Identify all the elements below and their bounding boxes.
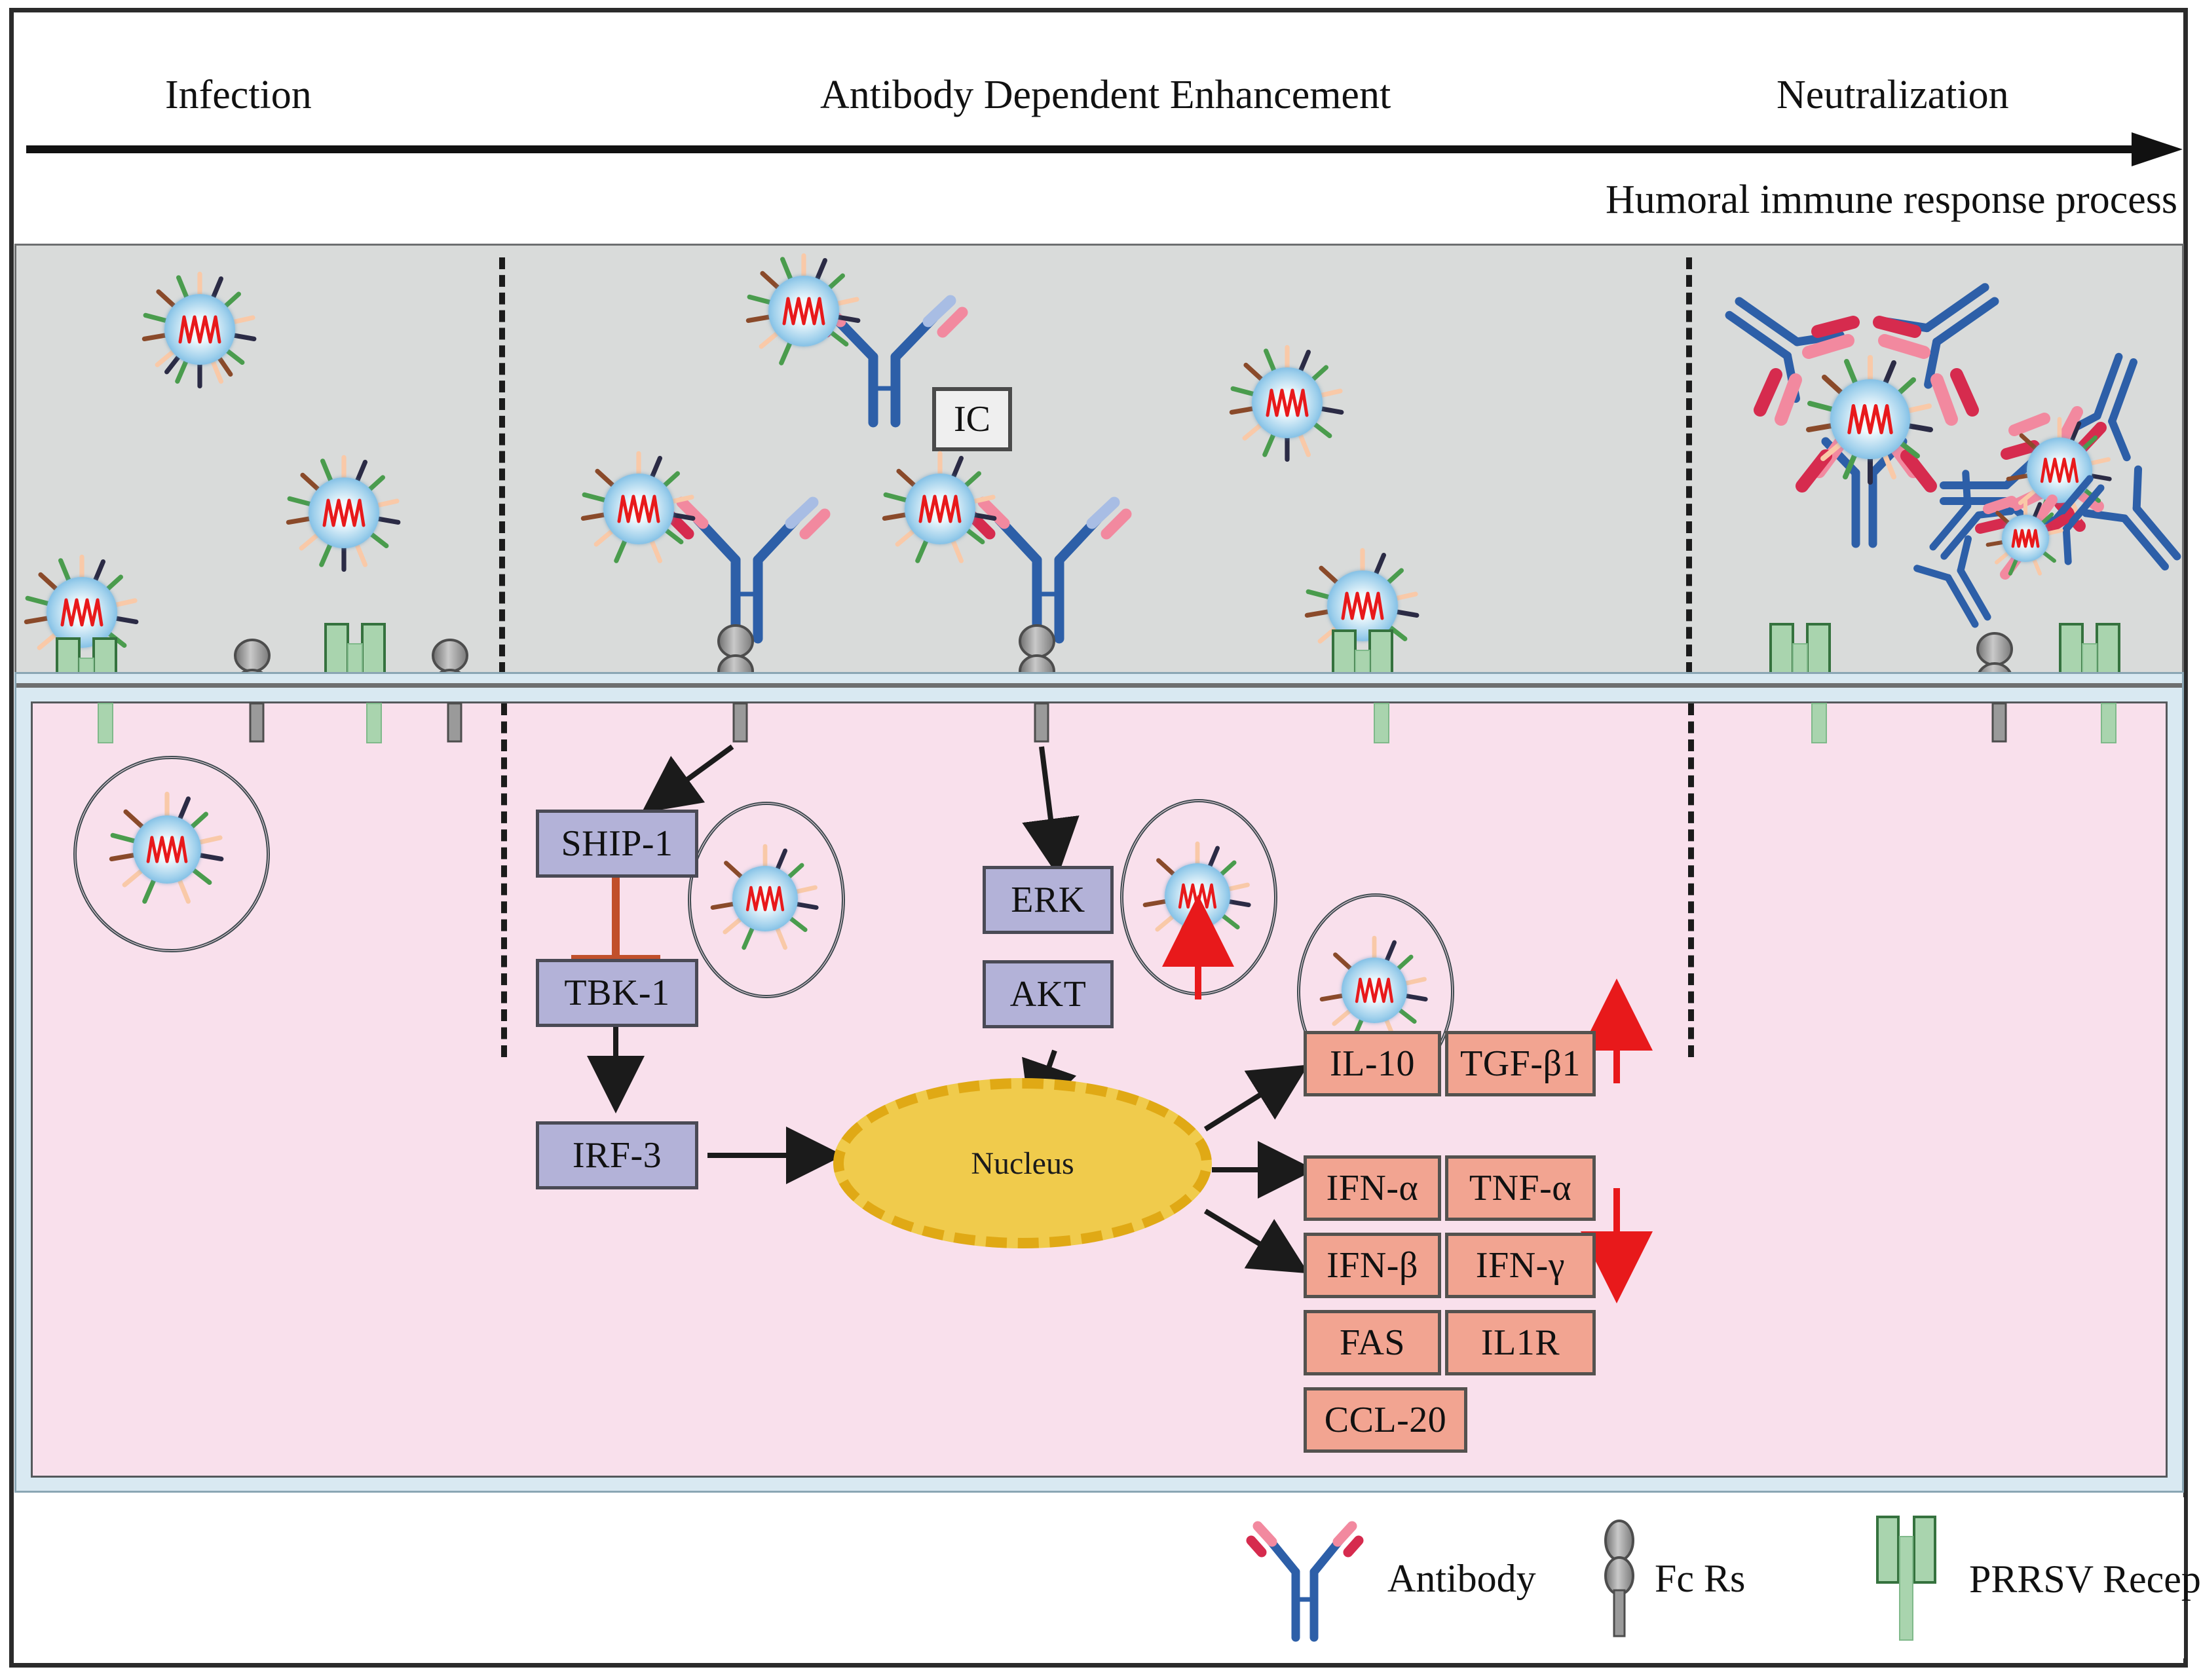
cytokine-box-ccl20[interactable]: CCL-20 [1304, 1387, 1467, 1453]
virus-particle [1985, 498, 2065, 578]
nucleus: Nucleus [833, 1078, 1212, 1248]
virus-particle [881, 450, 999, 568]
fc-receptor-icon [1600, 1520, 1639, 1637]
figure-root: Infection Antibody Dependent Enhancement… [0, 0, 2201, 1680]
cytokine-box-il1r[interactable]: IL1R [1445, 1310, 1596, 1375]
protein-box-akt[interactable]: AKT [983, 960, 1114, 1028]
legend-item-fc-receptors: Fc Rs [1600, 1520, 1745, 1637]
phase-label-infection: Infection [165, 72, 312, 119]
timeline-arrow-icon [26, 136, 2181, 162]
legend-label-antibody: Antibody [1387, 1556, 1536, 1601]
virus-antibody-fcr-complex [619, 442, 901, 678]
protein-box-ship1[interactable]: SHIP-1 [536, 810, 698, 878]
protein-box-erk[interactable]: ERK [983, 866, 1114, 934]
cytokine-box-ifng[interactable]: IFN-γ [1445, 1233, 1596, 1298]
cytokine-box-tnfa[interactable]: TNF-α [1445, 1155, 1596, 1221]
virus-particle [1228, 344, 1346, 462]
virus-antibody-fcr-complex [920, 442, 1202, 678]
cytokine-box-ifna[interactable]: IFN-α [1304, 1155, 1441, 1221]
legend: Antibody Fc Rs PRRSV Receptors [14, 1497, 2184, 1658]
phase-label-ade: Antibody Dependent Enhancement [820, 72, 1391, 119]
virus-particle [580, 450, 698, 568]
virus-particle [745, 252, 863, 370]
legend-label-prrsv-receptors: PRRSV Receptors [1969, 1557, 2201, 1602]
neutralized-virus-complex [1929, 449, 2126, 632]
timeline-shaft [26, 145, 2142, 153]
legend-item-prrsv-receptors: PRRSV Receptors [1868, 1517, 2201, 1641]
legend-item-antibody: Antibody [1252, 1513, 1536, 1644]
virus-genome-icon [780, 292, 827, 330]
protein-box-irf3[interactable]: IRF-3 [536, 1121, 698, 1189]
protein-box-tbk1[interactable]: TBK-1 [536, 959, 698, 1027]
virus-genome-icon [615, 490, 662, 528]
virus-genome-icon [2010, 526, 2041, 551]
virus-genome-icon [320, 494, 367, 532]
virus-genome-icon [1845, 399, 1896, 439]
cytokine-box-il10[interactable]: IL-10 [1304, 1031, 1441, 1096]
nucleus-label: Nucleus [971, 1146, 1074, 1182]
prrsv-receptor-icon [1868, 1517, 1947, 1641]
legend-label-fc-receptors: Fc Rs [1655, 1556, 1745, 1601]
header-band: Infection Antibody Dependent Enhancement… [14, 13, 2183, 236]
phase-divider-left-upper [499, 257, 505, 674]
cytokine-box-ifnb[interactable]: IFN-β [1304, 1233, 1441, 1298]
virus-genome-icon [176, 310, 223, 348]
plasma-membrane [16, 683, 2182, 688]
timeline-arrowhead [2132, 132, 2183, 166]
axis-label-humoral: Humoral immune response process [1606, 177, 2177, 223]
antibody-icon [1252, 1513, 1357, 1644]
cytokine-box-fas[interactable]: FAS [1304, 1310, 1441, 1375]
virus-genome-icon [1264, 384, 1311, 422]
virus-particle [141, 271, 259, 388]
phase-divider-right-upper [1686, 257, 1692, 674]
virus-particle [285, 454, 403, 572]
cell-diagram: IC [14, 244, 2184, 1493]
virus-genome-icon [58, 593, 105, 631]
virus-particle [1805, 354, 1936, 485]
extracellular-space: IC [14, 244, 2184, 674]
virus-genome-icon [916, 490, 964, 528]
cytokine-box-tgfb1[interactable]: TGF-β1 [1445, 1031, 1596, 1096]
phase-label-neutralization: Neutralization [1777, 72, 2009, 119]
virus-genome-icon [1339, 587, 1386, 625]
cell-body: SHIP-1 TBK-1 IRF-3 ERK AKT Nucleus IL-10… [14, 672, 2184, 1493]
cytoplasm: SHIP-1 TBK-1 IRF-3 ERK AKT Nucleus IL-10… [31, 701, 2168, 1478]
